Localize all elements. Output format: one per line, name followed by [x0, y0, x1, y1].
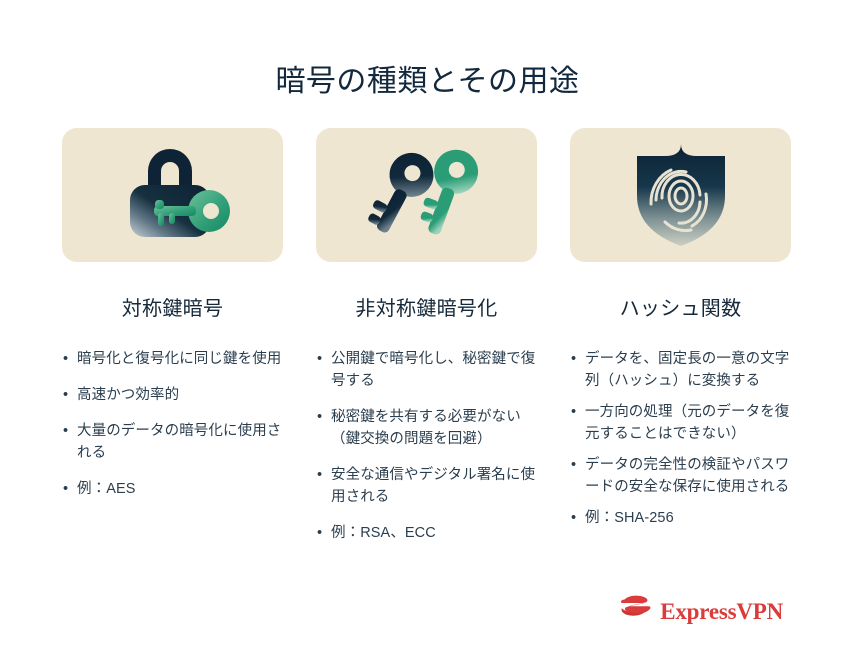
bullet-marker: • — [317, 464, 322, 486]
list-item: •例：AES — [62, 478, 283, 500]
column-hash-function: ハッシュ関数 •データを、固定長の一意の文字列（ハッシュ）に変換する •一方向の… — [570, 128, 791, 544]
list-item-text: 例：SHA-256 — [585, 510, 674, 526]
comparison-columns: 対称鍵暗号 •暗号化と復号化に同じ鍵を使用 •高速かつ効率的 •大量のデータの暗… — [62, 128, 792, 544]
icon-card-asymmetric-key — [316, 128, 537, 262]
bullet-marker: • — [63, 348, 68, 370]
list-item: •一方向の処理（元のデータを復元することはできない） — [570, 401, 791, 445]
list-item: •公開鍵で暗号化し、秘密鍵で復号する — [316, 348, 537, 392]
list-item-text: 例：AES — [77, 481, 136, 497]
list-item: •例：SHA-256 — [570, 507, 791, 529]
column-asymmetric-key: 非対称鍵暗号化 •公開鍵で暗号化し、秘密鍵で復号する •秘密鍵を共有する必要がな… — [316, 128, 537, 544]
list-item-text: 公開鍵で暗号化し、秘密鍵で復号する — [331, 351, 535, 389]
list-item-text: 暗号化と復号化に同じ鍵を使用 — [77, 351, 281, 367]
list-item: •安全な通信やデジタル署名に使用される — [316, 464, 537, 508]
bullet-list-hash-function: •データを、固定長の一意の文字列（ハッシュ）に変換する •一方向の処理（元のデー… — [570, 348, 791, 538]
bullet-marker: • — [571, 401, 576, 423]
list-item-text: 一方向の処理（元のデータを復元することはできない） — [585, 404, 789, 442]
column-heading-asymmetric-key: 非対称鍵暗号化 — [355, 296, 497, 322]
page-title: 暗号の種類とその用途 — [0, 64, 855, 100]
list-item-text: データを、固定長の一意の文字列（ハッシュ）に変換する — [585, 351, 789, 389]
shield-fingerprint-icon — [629, 140, 733, 250]
list-item: •データの完全性の検証やパスワードの安全な保存に使用される — [570, 454, 791, 498]
bullet-marker: • — [63, 420, 68, 442]
bullet-marker: • — [63, 384, 68, 406]
column-symmetric-key: 対称鍵暗号 •暗号化と復号化に同じ鍵を使用 •高速かつ効率的 •大量のデータの暗… — [62, 128, 283, 544]
bullet-marker: • — [571, 507, 576, 529]
list-item-text: 高速かつ効率的 — [77, 387, 179, 403]
icon-card-hash-function — [570, 128, 791, 262]
expressvpn-logo: ExpressVPN — [618, 594, 783, 629]
list-item: •暗号化と復号化に同じ鍵を使用 — [62, 348, 283, 370]
bullet-list-symmetric-key: •暗号化と復号化に同じ鍵を使用 •高速かつ効率的 •大量のデータの暗号化に使用さ… — [62, 348, 283, 500]
list-item-text: データの完全性の検証やパスワードの安全な保存に使用される — [585, 457, 789, 495]
list-item: •データを、固定長の一意の文字列（ハッシュ）に変換する — [570, 348, 791, 392]
bullet-marker: • — [571, 454, 576, 476]
bullet-list-asymmetric-key: •公開鍵で暗号化し、秘密鍵で復号する •秘密鍵を共有する必要がない（鍵交換の問題… — [316, 348, 537, 544]
list-item: •大量のデータの暗号化に使用される — [62, 420, 283, 464]
icon-card-symmetric-key — [62, 128, 283, 262]
list-item: •例：RSA、ECC — [316, 522, 537, 544]
list-item-text: 安全な通信やデジタル署名に使用される — [331, 467, 535, 505]
padlock-with-key-icon — [108, 143, 238, 247]
list-item-text: 大量のデータの暗号化に使用される — [77, 423, 281, 461]
column-heading-hash-function: ハッシュ関数 — [620, 296, 742, 322]
bullet-marker: • — [317, 522, 322, 544]
column-heading-symmetric-key: 対称鍵暗号 — [122, 296, 224, 322]
bullet-marker: • — [317, 348, 322, 370]
bullet-marker: • — [63, 478, 68, 500]
list-item-text: 秘密鍵を共有する必要がない（鍵交換の問題を回避） — [331, 409, 521, 447]
bullet-marker: • — [317, 406, 322, 428]
bullet-marker: • — [571, 348, 576, 370]
two-keys-icon — [364, 143, 490, 247]
expressvpn-mark-icon — [618, 594, 652, 629]
expressvpn-wordmark: ExpressVPN — [660, 600, 783, 623]
list-item-text: 例：RSA、ECC — [331, 525, 436, 541]
list-item: •高速かつ効率的 — [62, 384, 283, 406]
list-item: •秘密鍵を共有する必要がない（鍵交換の問題を回避） — [316, 406, 537, 450]
